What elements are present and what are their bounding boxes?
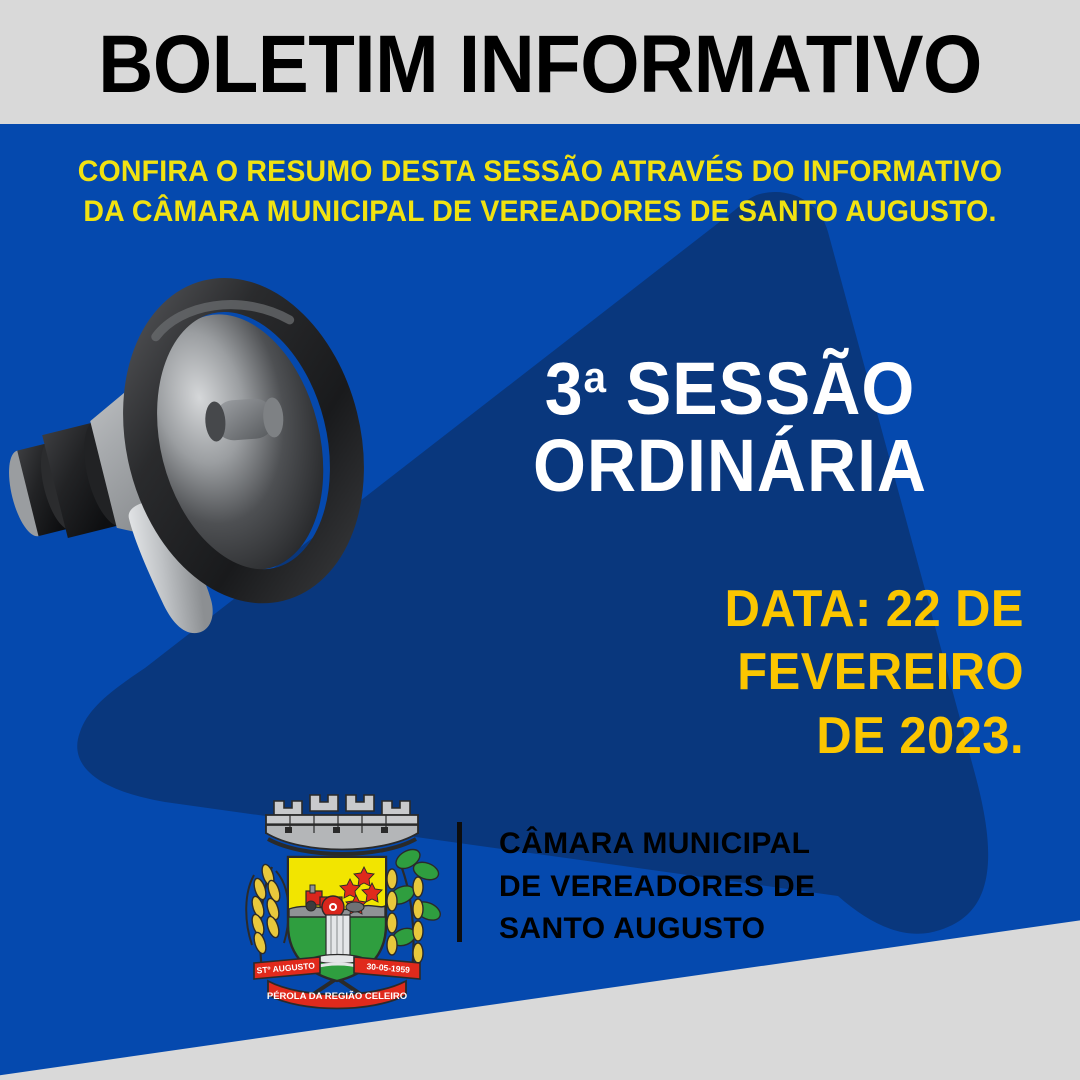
poster-canvas: BOLETIM INFORMATIVO CONFIRA O RESUMO DES… <box>0 0 1080 1080</box>
session-headline: 3a SESSÃO ORDINÁRIA <box>440 352 1020 506</box>
brand-line-2: DE VEREADORES DE <box>499 866 815 909</box>
coat-of-arms-icon: STº AUGUSTO 30-05-1959 PÉROLA DA REGIÃO … <box>232 775 442 1015</box>
page-title: BOLETIM INFORMATIVO <box>98 26 982 104</box>
subtitle-text: CONFIRA O RESUMO DESTA SESSÃO ATRAVÉS DO… <box>27 152 1053 231</box>
subtitle-line-2: DA CÂMARA MUNICIPAL DE VEREADORES DE SAN… <box>27 192 1053 232</box>
megaphone-icon <box>0 245 410 675</box>
brand-name: CÂMARA MUNICIPAL DE VEREADORES DE SANTO … <box>499 823 815 951</box>
session-date-line-1: DATA: 22 DE FEVEREIRO <box>725 580 1024 701</box>
subtitle-line-1: CONFIRA O RESUMO DESTA SESSÃO ATRAVÉS DO… <box>78 155 1003 188</box>
brand-line-1: CÂMARA MUNICIPAL <box>499 823 815 866</box>
header-banner: BOLETIM INFORMATIVO <box>0 0 1080 124</box>
session-type: ORDINÁRIA <box>463 426 997 506</box>
brand-line-3: SANTO AUGUSTO <box>499 908 815 951</box>
session-date-line-2: DE 2023. <box>460 705 1024 768</box>
footer-brand: STº AUGUSTO 30-05-1959 PÉROLA DA REGIÃO … <box>232 775 852 1015</box>
session-number-line: 3a SESSÃO <box>463 352 997 426</box>
session-number: 3 <box>545 347 584 430</box>
session-date: DATA: 22 DE FEVEREIRO DE 2023. <box>460 578 1024 768</box>
session-word: SESSÃO <box>626 347 915 430</box>
brand-divider <box>457 822 462 942</box>
session-ordinal-suffix: a <box>584 353 607 402</box>
crest-motto-text: PÉROLA DA REGIÃO CELEIRO <box>267 991 407 1002</box>
